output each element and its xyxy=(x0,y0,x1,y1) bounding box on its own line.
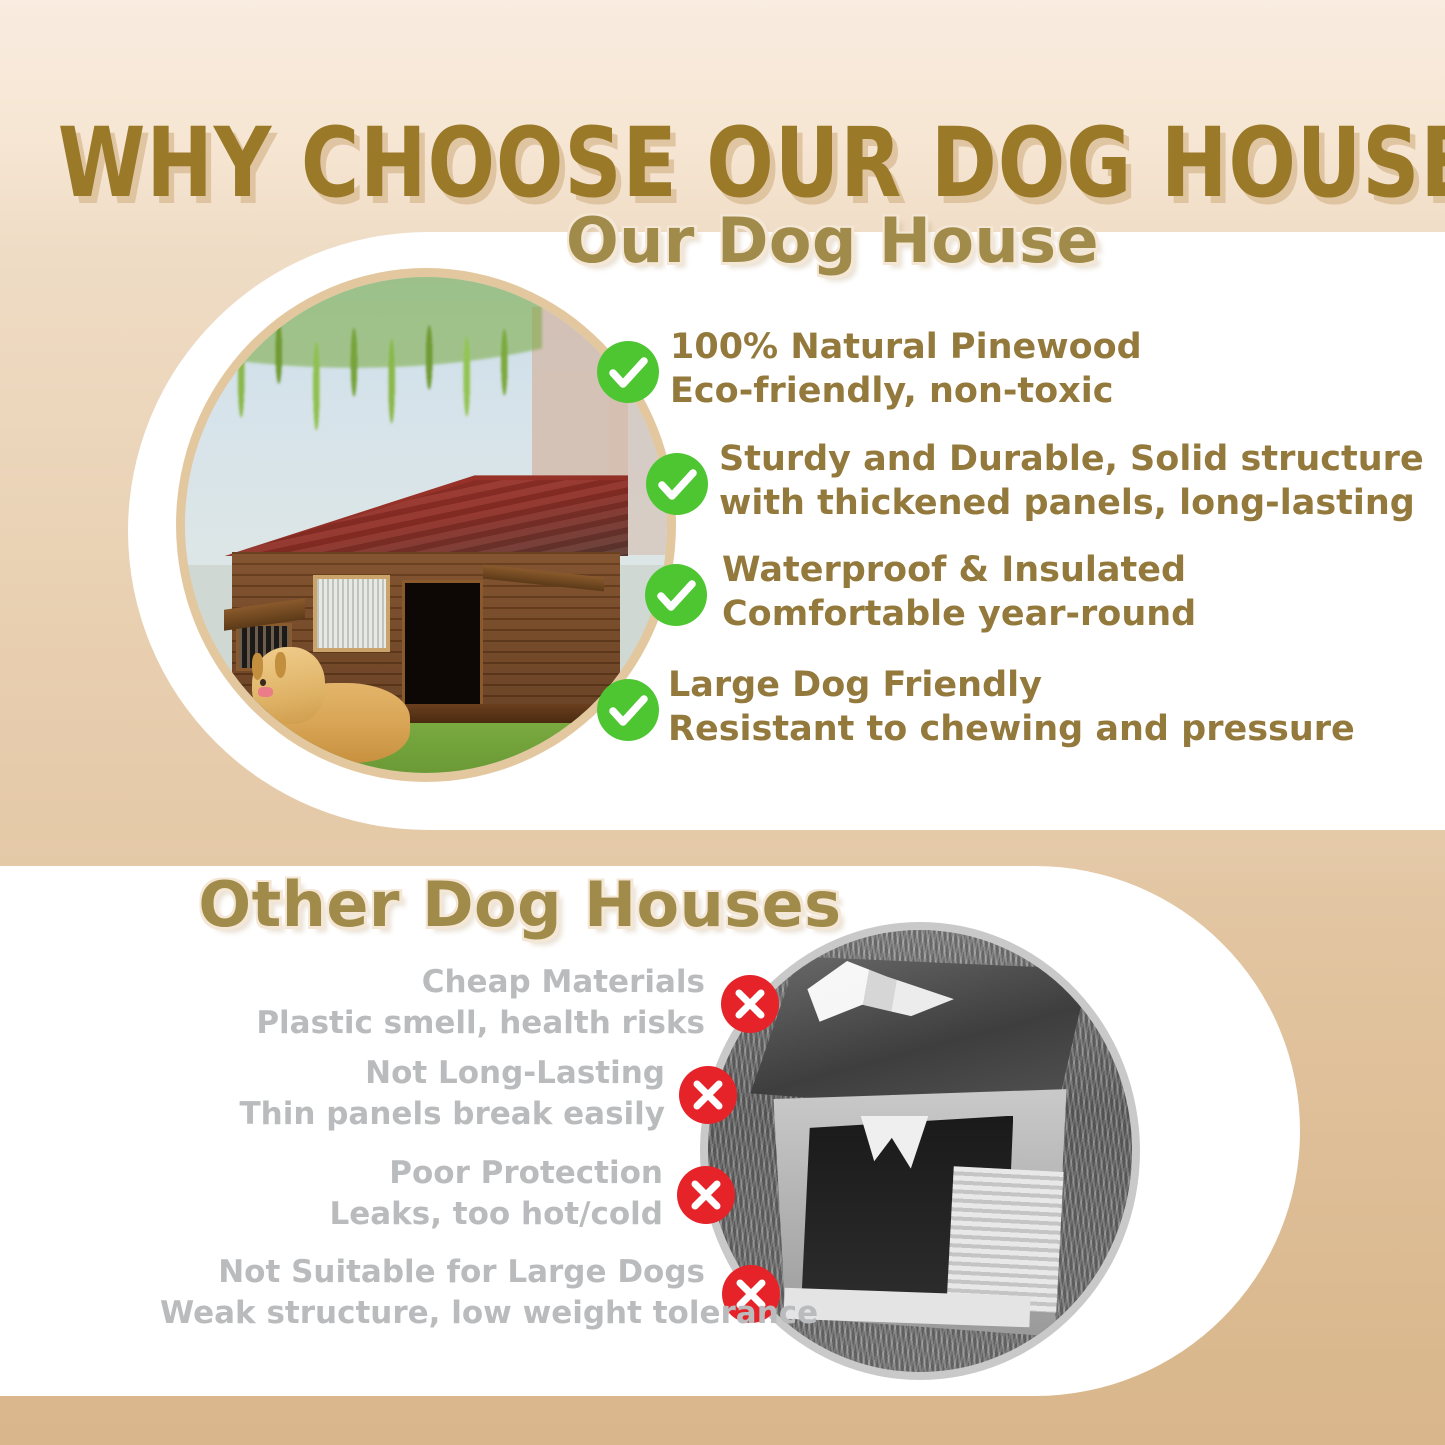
cross-circle-icon xyxy=(677,1166,735,1224)
pro-item-line2: Resistant to chewing and pressure xyxy=(668,707,1355,751)
pro-item-line1: Sturdy and Durable, Solid structure xyxy=(719,437,1424,481)
cross-circle-icon xyxy=(721,975,779,1033)
pro-item-line2: Eco-friendly, non-toxic xyxy=(670,369,1142,413)
con-item-line2: Plastic smell, health risks xyxy=(160,1003,705,1044)
con-item-line1: Cheap Materials xyxy=(160,962,705,1003)
pro-item-line2: Comfortable year-round xyxy=(722,592,1196,636)
pro-item-line1: 100% Natural Pinewood xyxy=(670,325,1142,369)
con-item-line1: Not Suitable for Large Dogs xyxy=(160,1252,705,1293)
con-item-line2: Leaks, too hot/cold xyxy=(118,1194,663,1235)
pro-item-line1: Large Dog Friendly xyxy=(668,663,1355,707)
con-item-line2: Thin panels break easily xyxy=(120,1094,665,1135)
check-circle-icon xyxy=(597,679,659,741)
con-item-line1: Poor Protection xyxy=(118,1153,663,1194)
ours-heading: Our Dog House xyxy=(0,204,1445,277)
check-circle-icon xyxy=(645,564,707,626)
check-circle-icon xyxy=(597,341,659,403)
pro-item-line1: Waterproof & Insulated xyxy=(722,548,1196,592)
pro-item-line2: with thickened panels, long-lasting xyxy=(719,481,1424,525)
con-item-line1: Not Long-Lasting xyxy=(120,1053,665,1094)
cross-circle-icon xyxy=(679,1066,737,1124)
infographic-root: WHY CHOOSE OUR DOG HOUSE?" Our Dog House xyxy=(0,0,1445,1445)
check-circle-icon xyxy=(646,453,708,515)
con-item-line2: Weak structure, low weight tolerance xyxy=(160,1293,705,1334)
